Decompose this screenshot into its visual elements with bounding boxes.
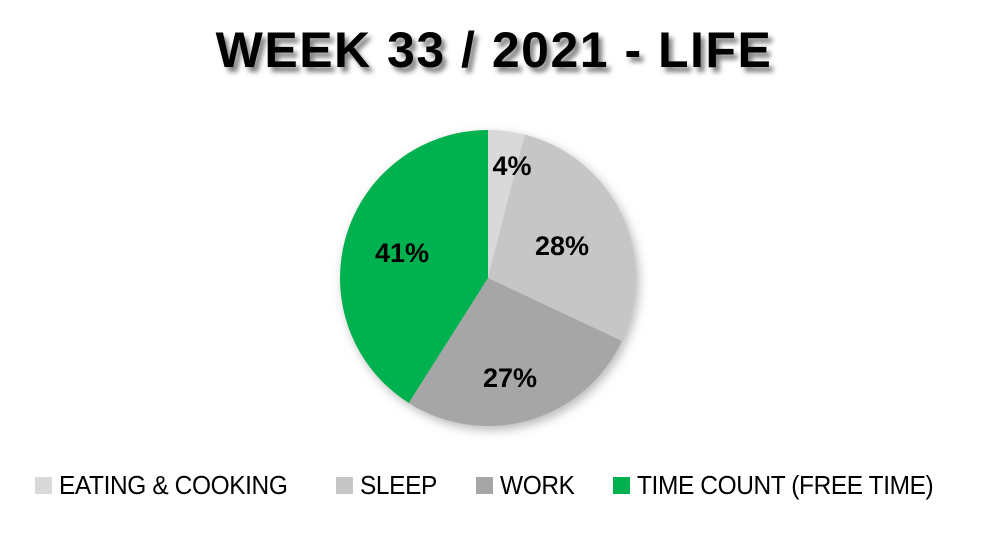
legend-label-work: WORK: [500, 470, 575, 501]
pie-chart-svg: 4% 28% 27% 41%: [330, 120, 650, 440]
legend-swatch-sleep-icon: [336, 477, 353, 494]
chart-legend: EATING & COOKING SLEEP WORK TIME COUNT (…: [0, 470, 988, 501]
legend-swatch-free-time-icon: [613, 477, 630, 494]
pie-label-eating-cooking: 4%: [492, 151, 531, 181]
legend-item-sleep[interactable]: SLEEP: [336, 470, 442, 501]
legend-label-eating-cooking: EATING & COOKING: [59, 470, 287, 501]
pie-chart-figure: WEEK 33 / 2021 - LIFE 4% 28% 27% 41%: [0, 0, 988, 540]
legend-item-eating-cooking[interactable]: EATING & COOKING: [35, 470, 302, 501]
pie-chart-plot-area: 4% 28% 27% 41%: [330, 120, 650, 440]
legend-label-sleep: SLEEP: [360, 470, 437, 501]
legend-item-work[interactable]: WORK: [476, 470, 579, 501]
pie-label-sleep: 28%: [535, 231, 589, 261]
pie-label-free-time: 41%: [375, 238, 429, 268]
legend-item-free-time[interactable]: TIME COUNT (FREE TIME): [613, 470, 952, 501]
legend-label-free-time: TIME COUNT (FREE TIME): [637, 470, 933, 501]
legend-swatch-work-icon: [476, 477, 493, 494]
legend-swatch-eating-cooking-icon: [35, 477, 52, 494]
page-title: WEEK 33 / 2021 - LIFE: [0, 24, 988, 77]
pie-label-work: 27%: [483, 363, 537, 393]
